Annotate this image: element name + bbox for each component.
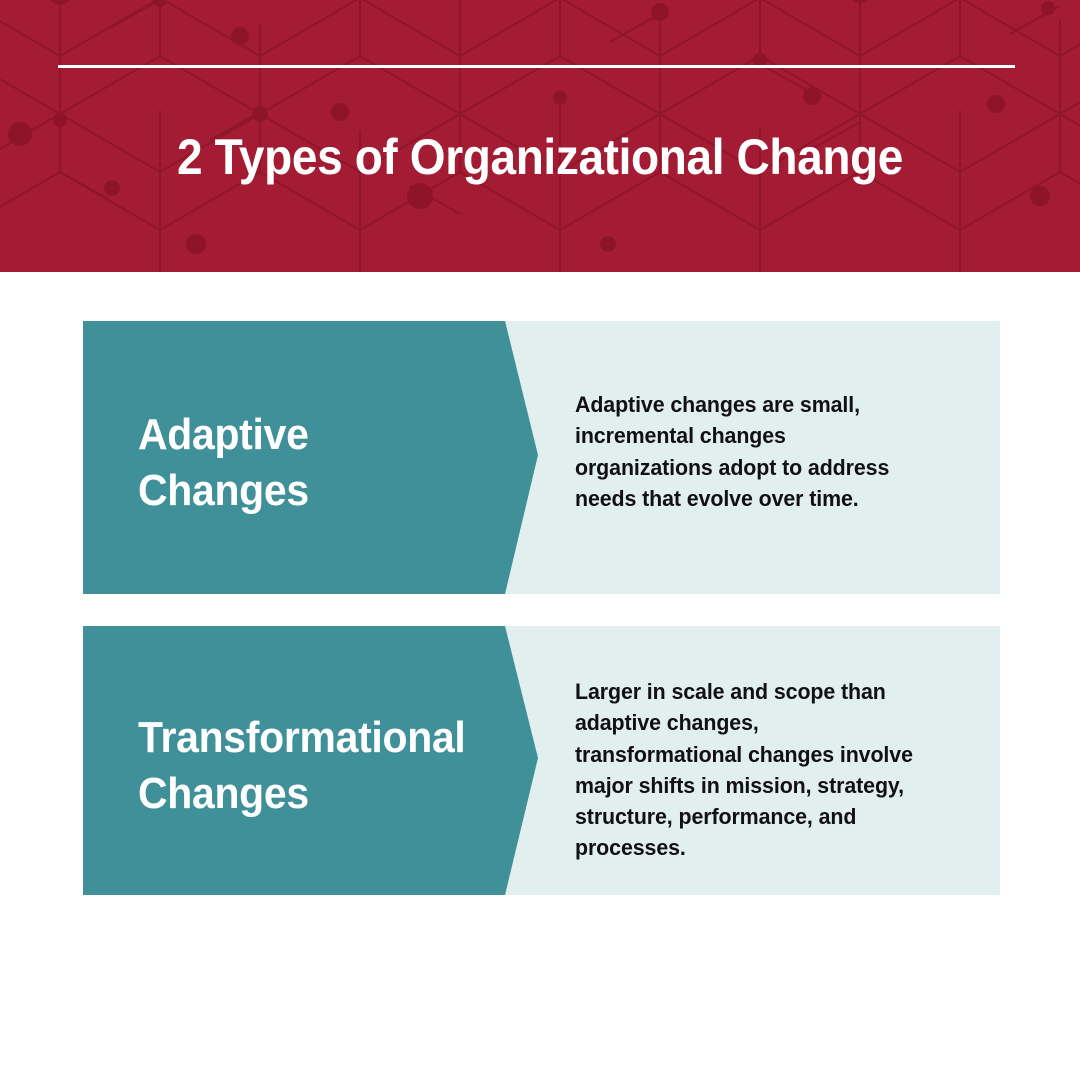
card-label-line-2: Changes <box>138 466 309 515</box>
header-divider-rule <box>58 65 1015 68</box>
card-adaptive-changes: Adaptive Changes Adaptive changes are sm… <box>83 321 1000 594</box>
footer: Harvard Business School Online <box>0 900 1080 1080</box>
header-banner: 2 Types of Organizational Change <box>0 0 1080 272</box>
card-label-adaptive: Adaptive Changes <box>138 407 510 520</box>
card-label-transformational: Transformational Changes <box>138 710 510 823</box>
card-description-adaptive: Adaptive changes are small, incremental … <box>575 389 927 514</box>
card-label-line-2: Changes <box>138 769 309 818</box>
infographic-page: 2 Types of Organizational Change Adaptiv… <box>0 0 1080 1080</box>
card-label-line-1: Adaptive <box>138 410 309 459</box>
card-label-line-1: Transformational <box>138 713 466 762</box>
card-transformational-changes: Transformational Changes Larger in scale… <box>83 626 1000 895</box>
card-description-transformational: Larger in scale and scope than adaptive … <box>575 676 927 864</box>
page-title: 2 Types of Organizational Change <box>43 128 1037 186</box>
